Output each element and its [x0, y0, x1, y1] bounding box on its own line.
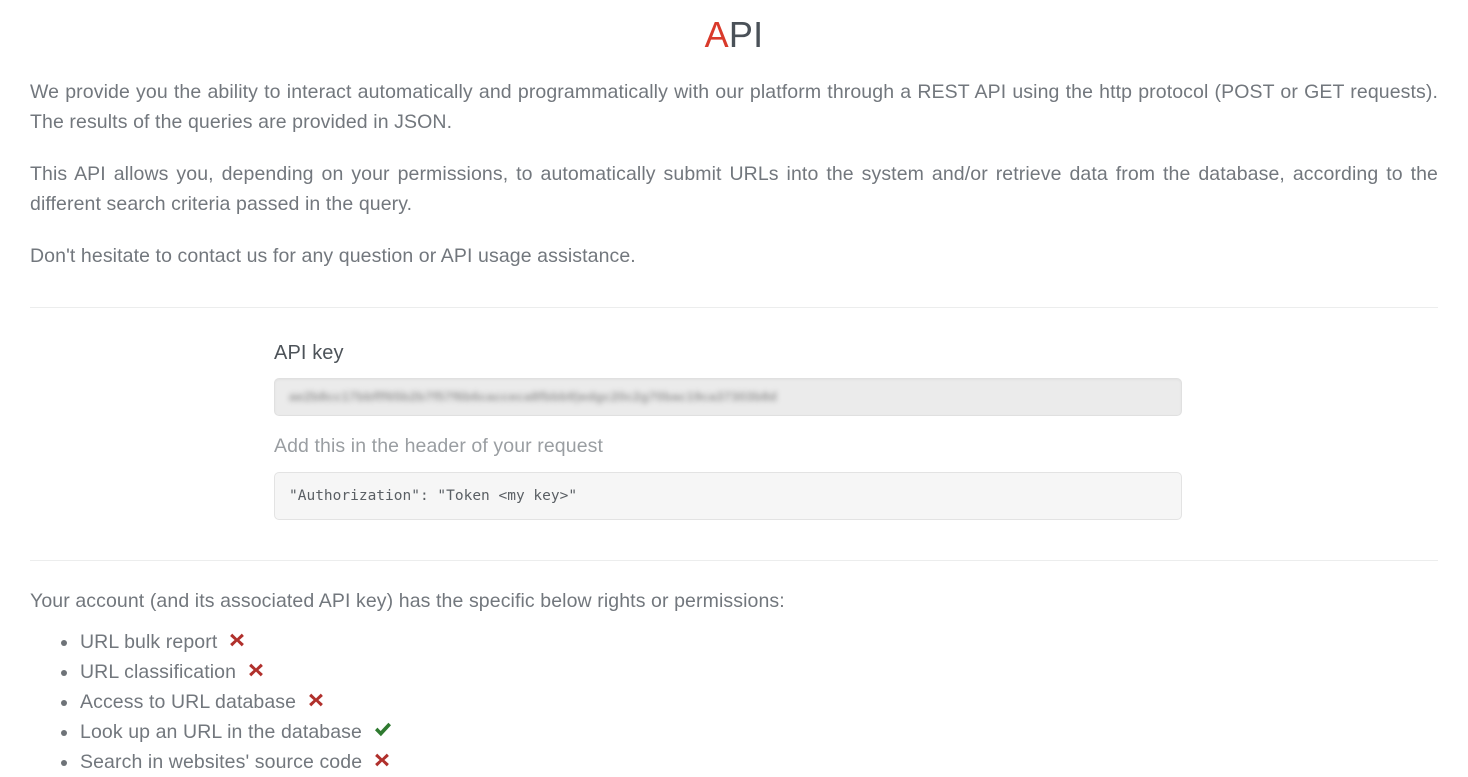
intro-paragraph-2: This API allows you, depending on your p…: [30, 159, 1438, 219]
api-page: API We provide you the ability to intera…: [0, 0, 1468, 777]
list-item: Search in websites' source code: [80, 747, 1438, 777]
list-item: Access to URL database: [80, 687, 1438, 717]
permission-label: Search in websites' source code: [80, 751, 362, 773]
api-key-input[interactable]: ae2b8cc17bbfff65b2b7f57f6b6cacceca8fbbb9…: [274, 378, 1182, 416]
page-title: API: [30, 0, 1438, 55]
permission-label: Access to URL database: [80, 691, 296, 713]
permission-label: Look up an URL in the database: [80, 721, 362, 743]
permission-label: URL classification: [80, 661, 236, 683]
api-key-label: API key: [274, 340, 1182, 366]
list-item: URL classification: [80, 657, 1438, 687]
intro-paragraph-3: Don't hesitate to contact us for any que…: [30, 241, 1438, 271]
cross-icon: [373, 751, 391, 769]
authorization-header-code: "Authorization": "Token <my key>": [274, 472, 1182, 520]
list-item: URL bulk report: [80, 627, 1438, 657]
api-key-section: API key ae2b8cc17bbfff65b2b7f57f6b6cacce…: [30, 308, 1438, 520]
permissions-list: URL bulk report URL classification Acces…: [30, 627, 1438, 777]
check-icon: [373, 721, 393, 739]
intro-paragraph-1: We provide you the ability to interact a…: [30, 77, 1438, 137]
cross-icon: [247, 661, 265, 679]
cross-icon: [228, 631, 246, 649]
permissions-intro: Your account (and its associated API key…: [30, 561, 1438, 615]
api-key-help-text: Add this in the header of your request: [274, 432, 1182, 460]
api-key-value: ae2b8cc17bbfff65b2b7f57f6b6cacceca8fbbb9…: [289, 379, 777, 415]
cross-icon: [307, 691, 325, 709]
permission-label: URL bulk report: [80, 631, 217, 653]
page-title-rest: PI: [729, 14, 763, 55]
list-item: Look up an URL in the database: [80, 717, 1438, 747]
intro-section: We provide you the ability to interact a…: [30, 55, 1438, 271]
page-title-accent: A: [705, 14, 729, 55]
